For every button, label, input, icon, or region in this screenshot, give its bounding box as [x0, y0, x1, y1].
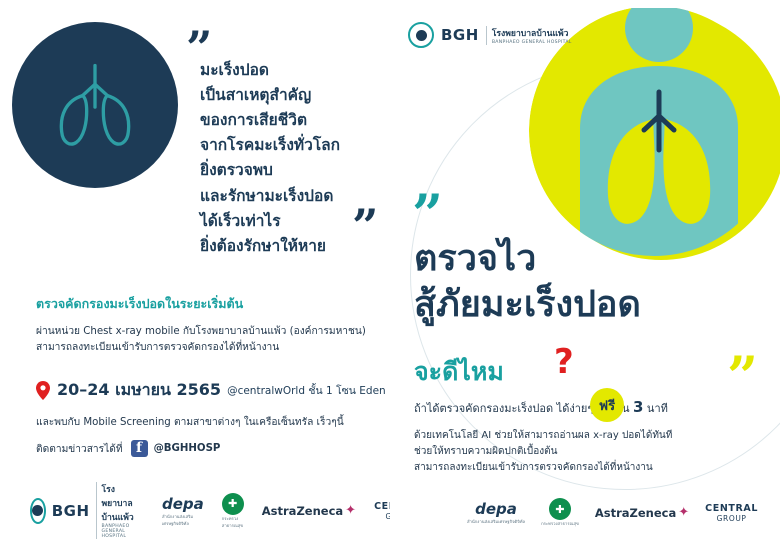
right-sub-number: 3: [633, 398, 643, 416]
left-headline-l2: เป็นสาเหตุสำคัญ: [200, 83, 375, 108]
left-headline-l1: มะเร็งปอด: [200, 58, 375, 83]
central-line1-right: CENTRAL: [705, 503, 758, 514]
event-venue: @centralwOrld ชั้น 1 โซน Eden: [227, 382, 386, 399]
depa-wordmark-right: depa: [475, 500, 517, 518]
left-section-title: ตรวจคัดกรองมะเร็งปอดในระยะเริ่มต้น: [36, 294, 381, 314]
left-headline-l8: ยิ่งต้องรักษาให้หาย: [200, 234, 375, 259]
bgh-thai-header: โรงพยาบาลบ้านแพ้ว: [492, 26, 572, 40]
astrazeneca-wordmark-left: AstraZeneca: [262, 504, 343, 518]
facebook-handle[interactable]: @BGHHOSP: [154, 443, 221, 454]
bgh-mark-icon: [30, 498, 46, 524]
gov-mark-icon-right: ✚: [549, 498, 571, 520]
lung-illustration-circle: [12, 22, 178, 188]
depa-caption-left: สำนักงานส่งเสริมเศรษฐกิจดิจิทัล: [162, 513, 204, 527]
right-body-block: ด้วยเทคโนโลยี AI ช่วยให้สามารถอ่านผล x-r…: [414, 428, 754, 477]
location-pin-icon: [36, 381, 50, 400]
left-panel: ” ” มะเร็งปอด เป็นสาเหตุสำคัญ ของการเสีย…: [0, 0, 390, 551]
right-headline-2: สู้ภัยมะเร็งปอด: [414, 284, 641, 326]
event-date-row: 20–24 เมษายน 2565 @centralwOrld ชั้น 1 โ…: [36, 378, 386, 403]
left-headline-l4: จากโรคมะเร็งทั่วโลก: [200, 133, 375, 158]
bgh-en-header: BANPHAEO GENERAL HOSPITAL: [492, 40, 572, 45]
central-line2-right: GROUP: [705, 514, 758, 523]
left-headline-l5: ยิ่งตรวจพบ: [200, 158, 375, 183]
bgh-abbr-header: BGH: [441, 26, 479, 44]
follow-label: ติดตามข่าวสารได้ที่: [36, 441, 123, 457]
right-logo-row: depa สำนักงานส่งเสริมเศรษฐกิจดิจิทัล ✚ ก…: [467, 498, 758, 527]
gov-mark-icon: ✚: [222, 493, 244, 515]
gov-logo-left: ✚ กระทรวงสาธารณสุข: [222, 493, 244, 529]
right-panel: BGH โรงพยาบาลบ้านแพ้ว BANPHAEO GENERAL H…: [390, 0, 780, 551]
right-body-line-2: ช่วยให้ทราบความผิดปกติเบื้องต้น: [414, 444, 754, 460]
astrazeneca-logo-right: AstraZeneca ✦: [595, 505, 689, 520]
bgh-mark-icon-header: [408, 22, 434, 48]
astrazeneca-wordmark-right: AstraZeneca: [595, 506, 676, 520]
left-headline-l7: ได้เร็วเท่าไร: [200, 209, 375, 234]
left-body-line-1: ผ่านหน่วย Chest x-ray mobile กับโรงพยาบา…: [36, 324, 381, 340]
right-body-line-3: สามารถลงทะเบียนเข้ารับการตรวจคัดกรองได้ท…: [414, 460, 754, 476]
mobile-screening-note: และพบกับ Mobile Screening ตามสาขาต่างๆ ใ…: [36, 414, 344, 430]
astrazeneca-mark-icon-right: ✦: [678, 505, 689, 520]
right-headline-1: ตรวจไว: [414, 238, 536, 280]
astrazeneca-mark-icon: ✦: [345, 503, 356, 518]
poster-page: ” ” มะเร็งปอด เป็นสาเหตุสำคัญ ของการเสีย…: [0, 0, 780, 551]
gov-logo-right: ✚ กระทรวงสาธารณสุข: [541, 498, 579, 527]
bgh-abbr-left: BGH: [52, 502, 90, 520]
facebook-icon[interactable]: f: [131, 440, 148, 457]
left-logo-row: BGH โรงพยาบาลบ้านแพ้ว BANPHAEO GENERAL H…: [30, 482, 427, 539]
event-date: 20–24 เมษายน 2565: [57, 378, 221, 403]
astrazeneca-logo-left: AstraZeneca ✦: [262, 503, 356, 518]
depa-wordmark-left: depa: [162, 495, 204, 513]
right-body-line-1: ด้วยเทคโนโลยี AI ช่วยให้สามารถอ่านผล x-r…: [414, 428, 754, 444]
left-headline-l3: ของการเสียชีวิต: [200, 108, 375, 133]
depa-logo-right: depa สำนักงานส่งเสริมเศรษฐกิจดิจิทัล: [467, 500, 525, 525]
depa-caption-right: สำนักงานส่งเสริมเศรษฐกิจดิจิทัล: [467, 518, 525, 525]
torso-lungs-illustration: [520, 8, 780, 278]
lungs-icon: [43, 53, 147, 157]
right-sub-suffix: นาที: [643, 402, 667, 415]
left-body-line-2: สามารถลงทะเบียนเข้ารับการตรวจคัดกรองได้ท…: [36, 340, 381, 356]
bgh-en-left: BANPHAEO GENERAL HOSPITAL: [102, 524, 144, 539]
bgh-logo-header: BGH โรงพยาบาลบ้านแพ้ว BANPHAEO GENERAL H…: [408, 22, 572, 48]
depa-logo-left: depa สำนักงานส่งเสริมเศรษฐกิจดิจิทัล: [162, 495, 204, 527]
bgh-thai-left: โรงพยาบาลบ้านแพ้ว: [102, 482, 144, 524]
right-quote-close: ”: [727, 358, 758, 396]
gov-caption-left: กระทรวงสาธารณสุข: [222, 515, 244, 529]
right-subline: ถ้าได้ตรวจคัดกรองมะเร็งปอด ได้ง่ายๆ ภายใ…: [414, 398, 668, 417]
gov-caption-right: กระทรวงสาธารณสุข: [541, 520, 579, 527]
right-headline-3: จะดีไหม: [414, 352, 504, 392]
left-headline-l6: และรักษามะเร็งปอด: [200, 184, 375, 209]
left-body-block: ตรวจคัดกรองมะเร็งปอดในระยะเริ่มต้น ผ่านห…: [36, 294, 381, 356]
free-badge: ฟรี: [590, 388, 624, 422]
central-group-logo-right: CENTRAL GROUP: [705, 503, 758, 523]
follow-row: ติดตามข่าวสารได้ที่ f @BGHHOSP: [36, 440, 220, 457]
bgh-logo-left: BGH โรงพยาบาลบ้านแพ้ว BANPHAEO GENERAL H…: [30, 482, 144, 539]
question-mark: ?: [554, 342, 574, 382]
right-quote-open: ”: [412, 196, 443, 234]
left-headline: มะเร็งปอด เป็นสาเหตุสำคัญ ของการเสียชีวิ…: [200, 58, 375, 259]
